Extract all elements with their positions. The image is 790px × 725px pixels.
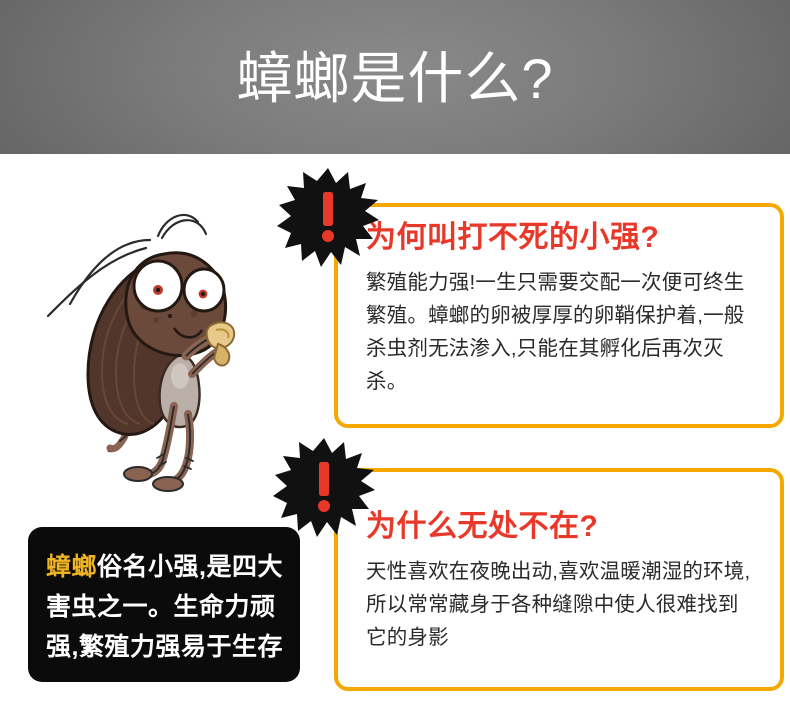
card-2-body: 天性喜欢在夜晚出动,喜欢温暖潮湿的环境,所以常常藏身于各种缝隙中使人很难找到它的… [366, 555, 758, 654]
exclamation-burst-icon-1 [276, 166, 380, 270]
cockroach-illustration [46, 178, 296, 498]
header-banner: 蟑螂是什么? [0, 0, 790, 154]
card-1-body: 繁殖能力强!一生只需要交配一次便可终生繁殖。蟑螂的卵被厚厚的卵鞘保护着,一般杀虫… [366, 266, 758, 398]
exclamation-burst-icon-2 [272, 436, 376, 540]
page-title: 蟑螂是什么? [236, 51, 553, 107]
card-2-heading: 为什么无处不在? [366, 510, 758, 545]
callout-highlight: 蟑螂 [46, 553, 97, 581]
infographic-page: 蟑螂是什么? [0, 0, 790, 725]
info-card-1: 为何叫打不死的小强? 繁殖能力强!一生只需要交配一次便可终生繁殖。蟑螂的卵被厚厚… [334, 203, 784, 428]
callout-box: 蟑螂俗名小强,是四大害虫之一。生命力顽强,繁殖力强易于生存 [28, 527, 300, 682]
card-1-heading: 为何叫打不死的小强? [366, 221, 758, 256]
info-card-2: 为什么无处不在? 天性喜欢在夜晚出动,喜欢温暖潮湿的环境,所以常常藏身于各种缝隙… [334, 468, 784, 691]
callout-text: 蟑螂俗名小强,是四大害虫之一。生命力顽强,繁殖力强易于生存 [46, 547, 284, 667]
